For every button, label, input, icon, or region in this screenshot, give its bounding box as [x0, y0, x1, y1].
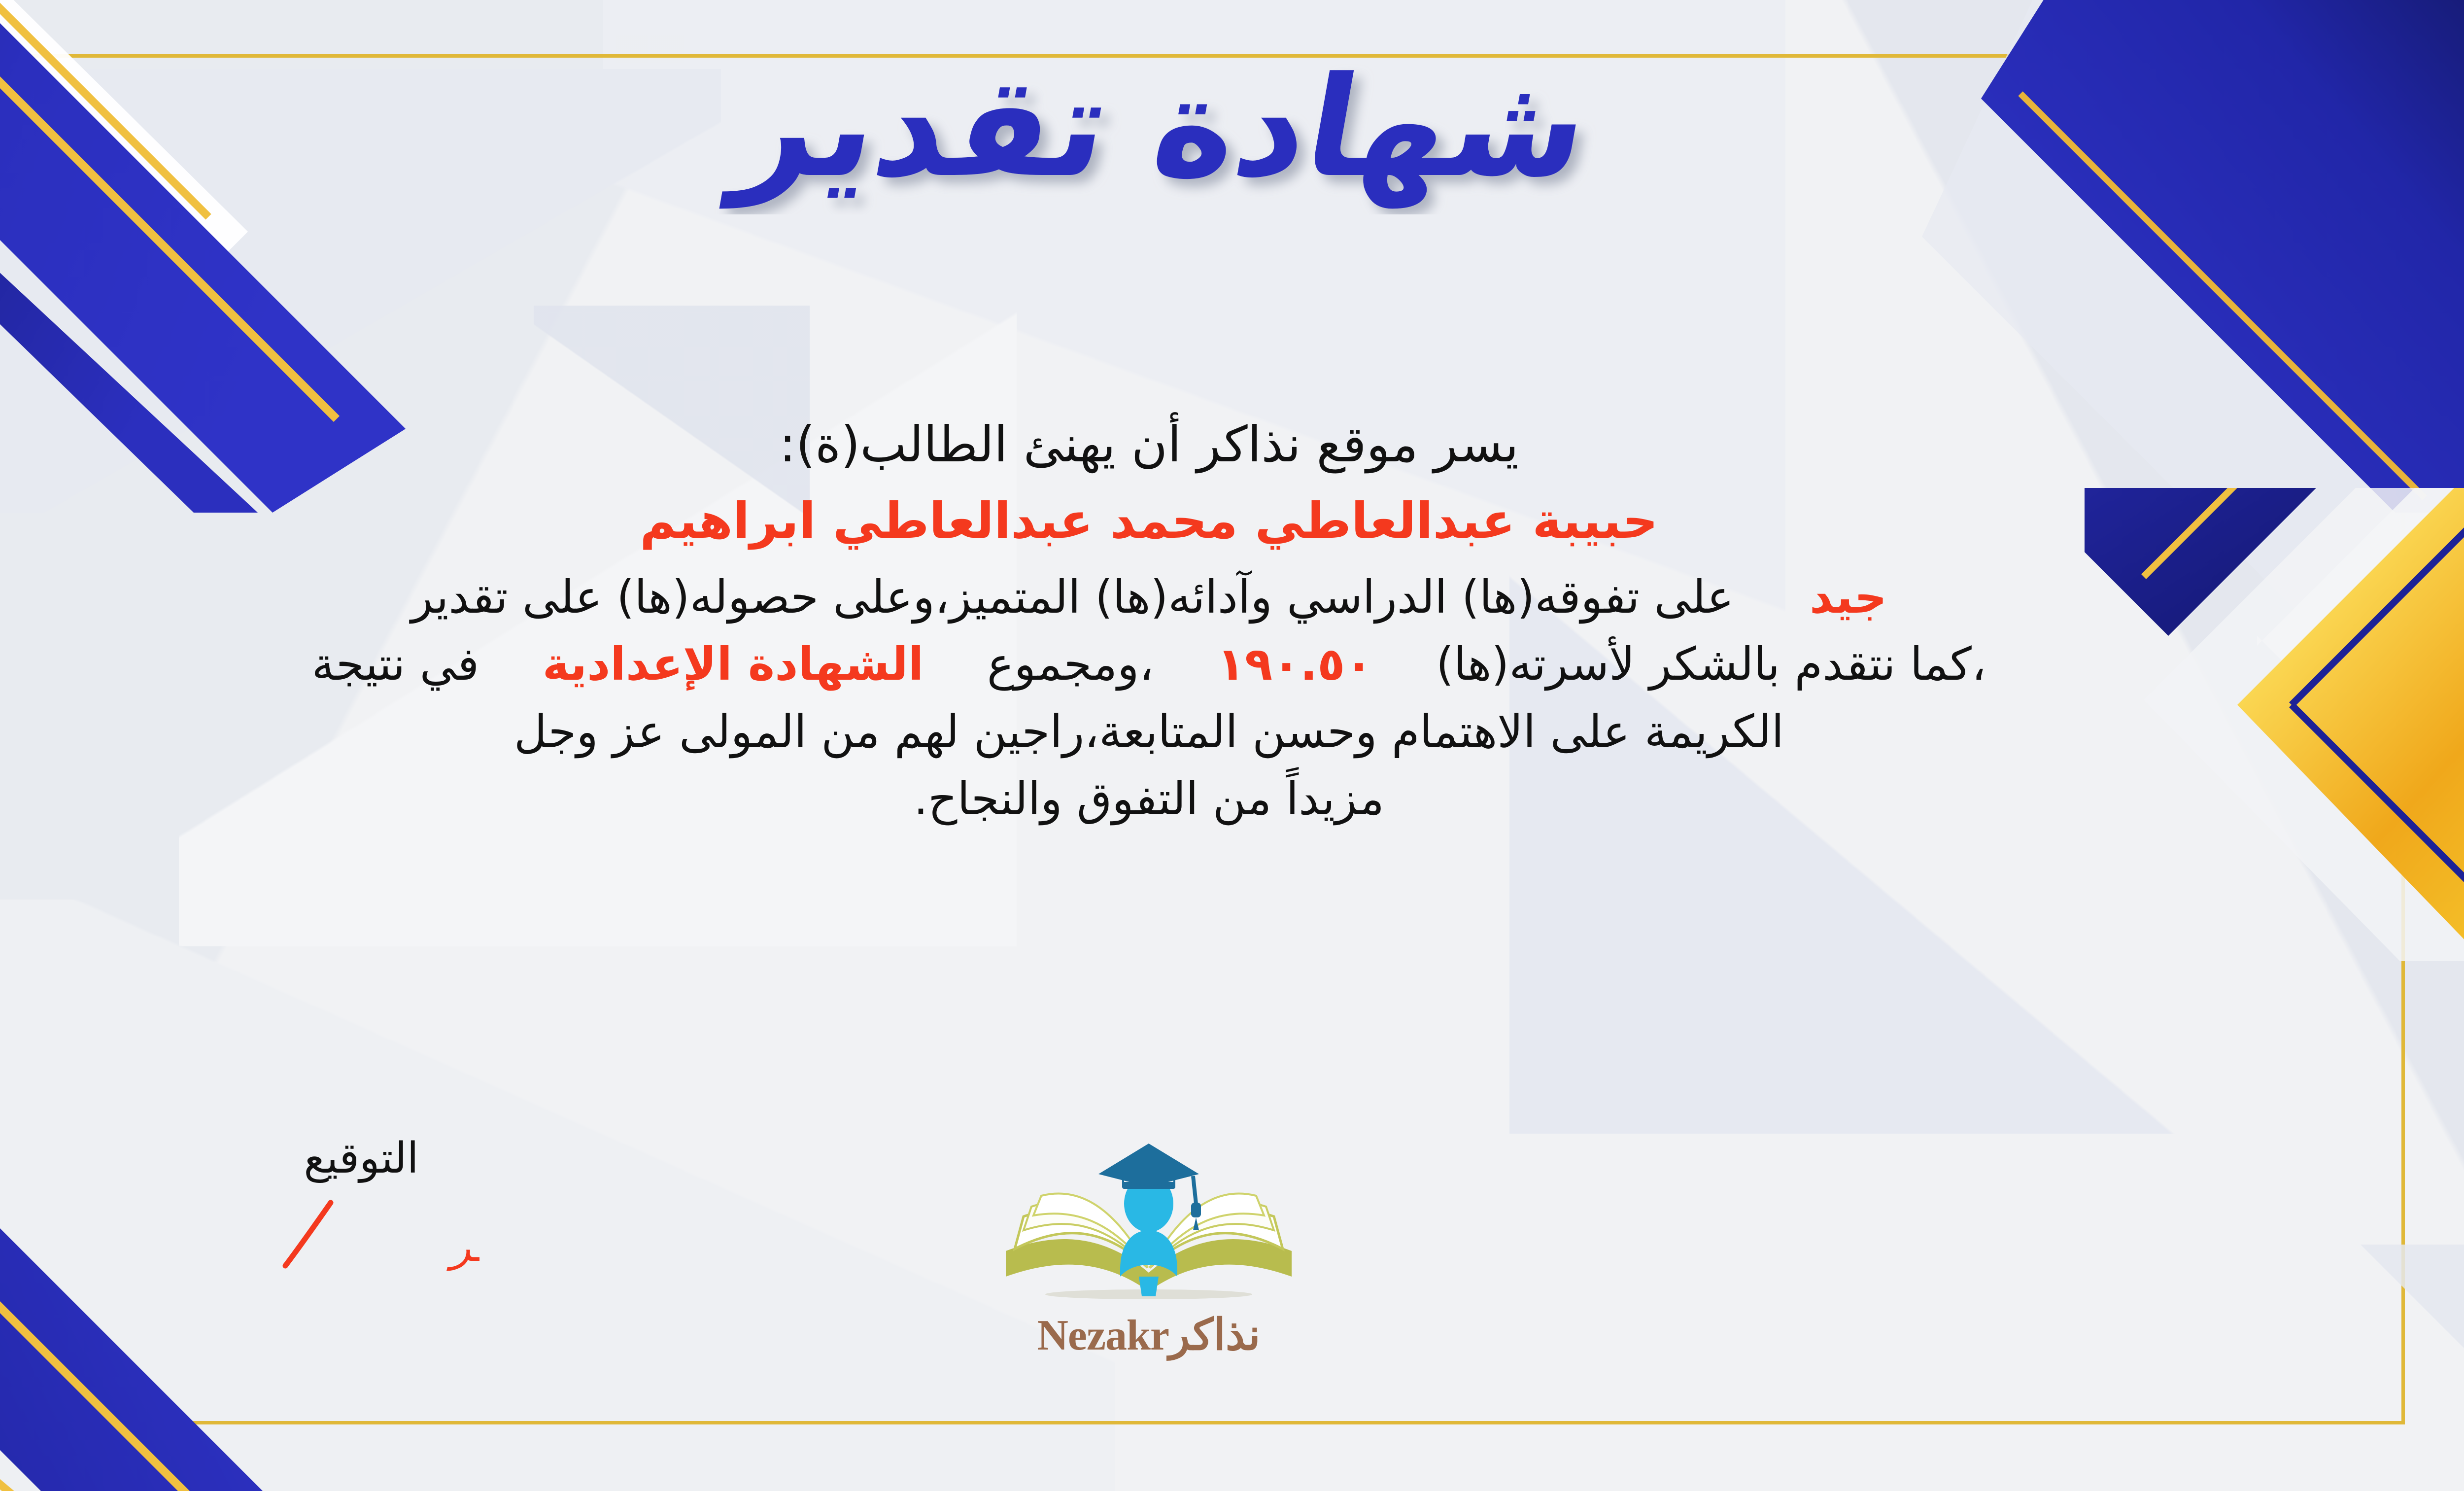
total-score: ١٩٠.٥٠: [1217, 638, 1373, 691]
congratulation-line: يسر موقع نذاكر أن يهنئ الطالب(ة):: [0, 412, 2375, 477]
handwritten-signature: موقع نذاكر: [243, 1197, 479, 1290]
result-line: ،كما نتقدم بالشكر لأسرته(ها) ١٩٠.٥٠ ،ومج…: [0, 634, 2375, 694]
student-name: حبيبة عبدالعاطي محمد عبدالعاطي ابراهيم: [0, 488, 2375, 554]
total-label: ،ومجموع: [987, 638, 1154, 691]
signature-text: موقع نذاكر: [446, 1223, 479, 1271]
corner-ornament-bottom-right: [2193, 1245, 2464, 1491]
signature-label: التوقيع: [208, 1134, 514, 1183]
logo-wordmark-latin: Nezakr: [1037, 1311, 1169, 1360]
signature-block: التوقيع موقع نذاكر: [208, 1134, 514, 1292]
thanks-text: ،كما نتقدم بالشكر لأسرته(ها): [1436, 638, 1986, 691]
title-calligraphy: شهادة تقدير: [632, 52, 1667, 214]
certificate-title: شهادة تقدير: [0, 52, 2464, 219]
logo-wordmark: نذاكرNezakr: [942, 1309, 1356, 1360]
title-text: شهادة تقدير: [718, 52, 1601, 209]
achievement-text: على تفوقه(ها) الدراسي وآدائه(ها) المتميز…: [411, 571, 1734, 624]
site-logo: نذاكرNezakr: [942, 1129, 1356, 1360]
signature-mark: موقع نذاكر: [208, 1197, 514, 1292]
family-thanks-line: الكريمة على الاهتمام وحسن المتابعة،راجين…: [0, 702, 2375, 762]
grade-value: جيد: [1810, 571, 1887, 624]
certificate-document: شهادة تقدير يسر موقع نذاكر أن يهنئ الطال…: [0, 0, 2464, 1491]
certificate-name: الشهادة الإعدادية: [543, 638, 924, 691]
graduation-book-icon: [976, 1129, 1321, 1311]
logo-wordmark-arabic: نذاكر: [1169, 1312, 1261, 1359]
achievement-line: جيد على تفوقه(ها) الدراسي وآدائه(ها) الم…: [0, 567, 2375, 627]
certificate-body: يسر موقع نذاكر أن يهنئ الطالب(ة): حبيبة …: [0, 412, 2375, 829]
result-prefix: في نتيجة: [311, 638, 479, 691]
closing-line: مزيداً من التفوق والنجاح.: [0, 769, 2375, 829]
